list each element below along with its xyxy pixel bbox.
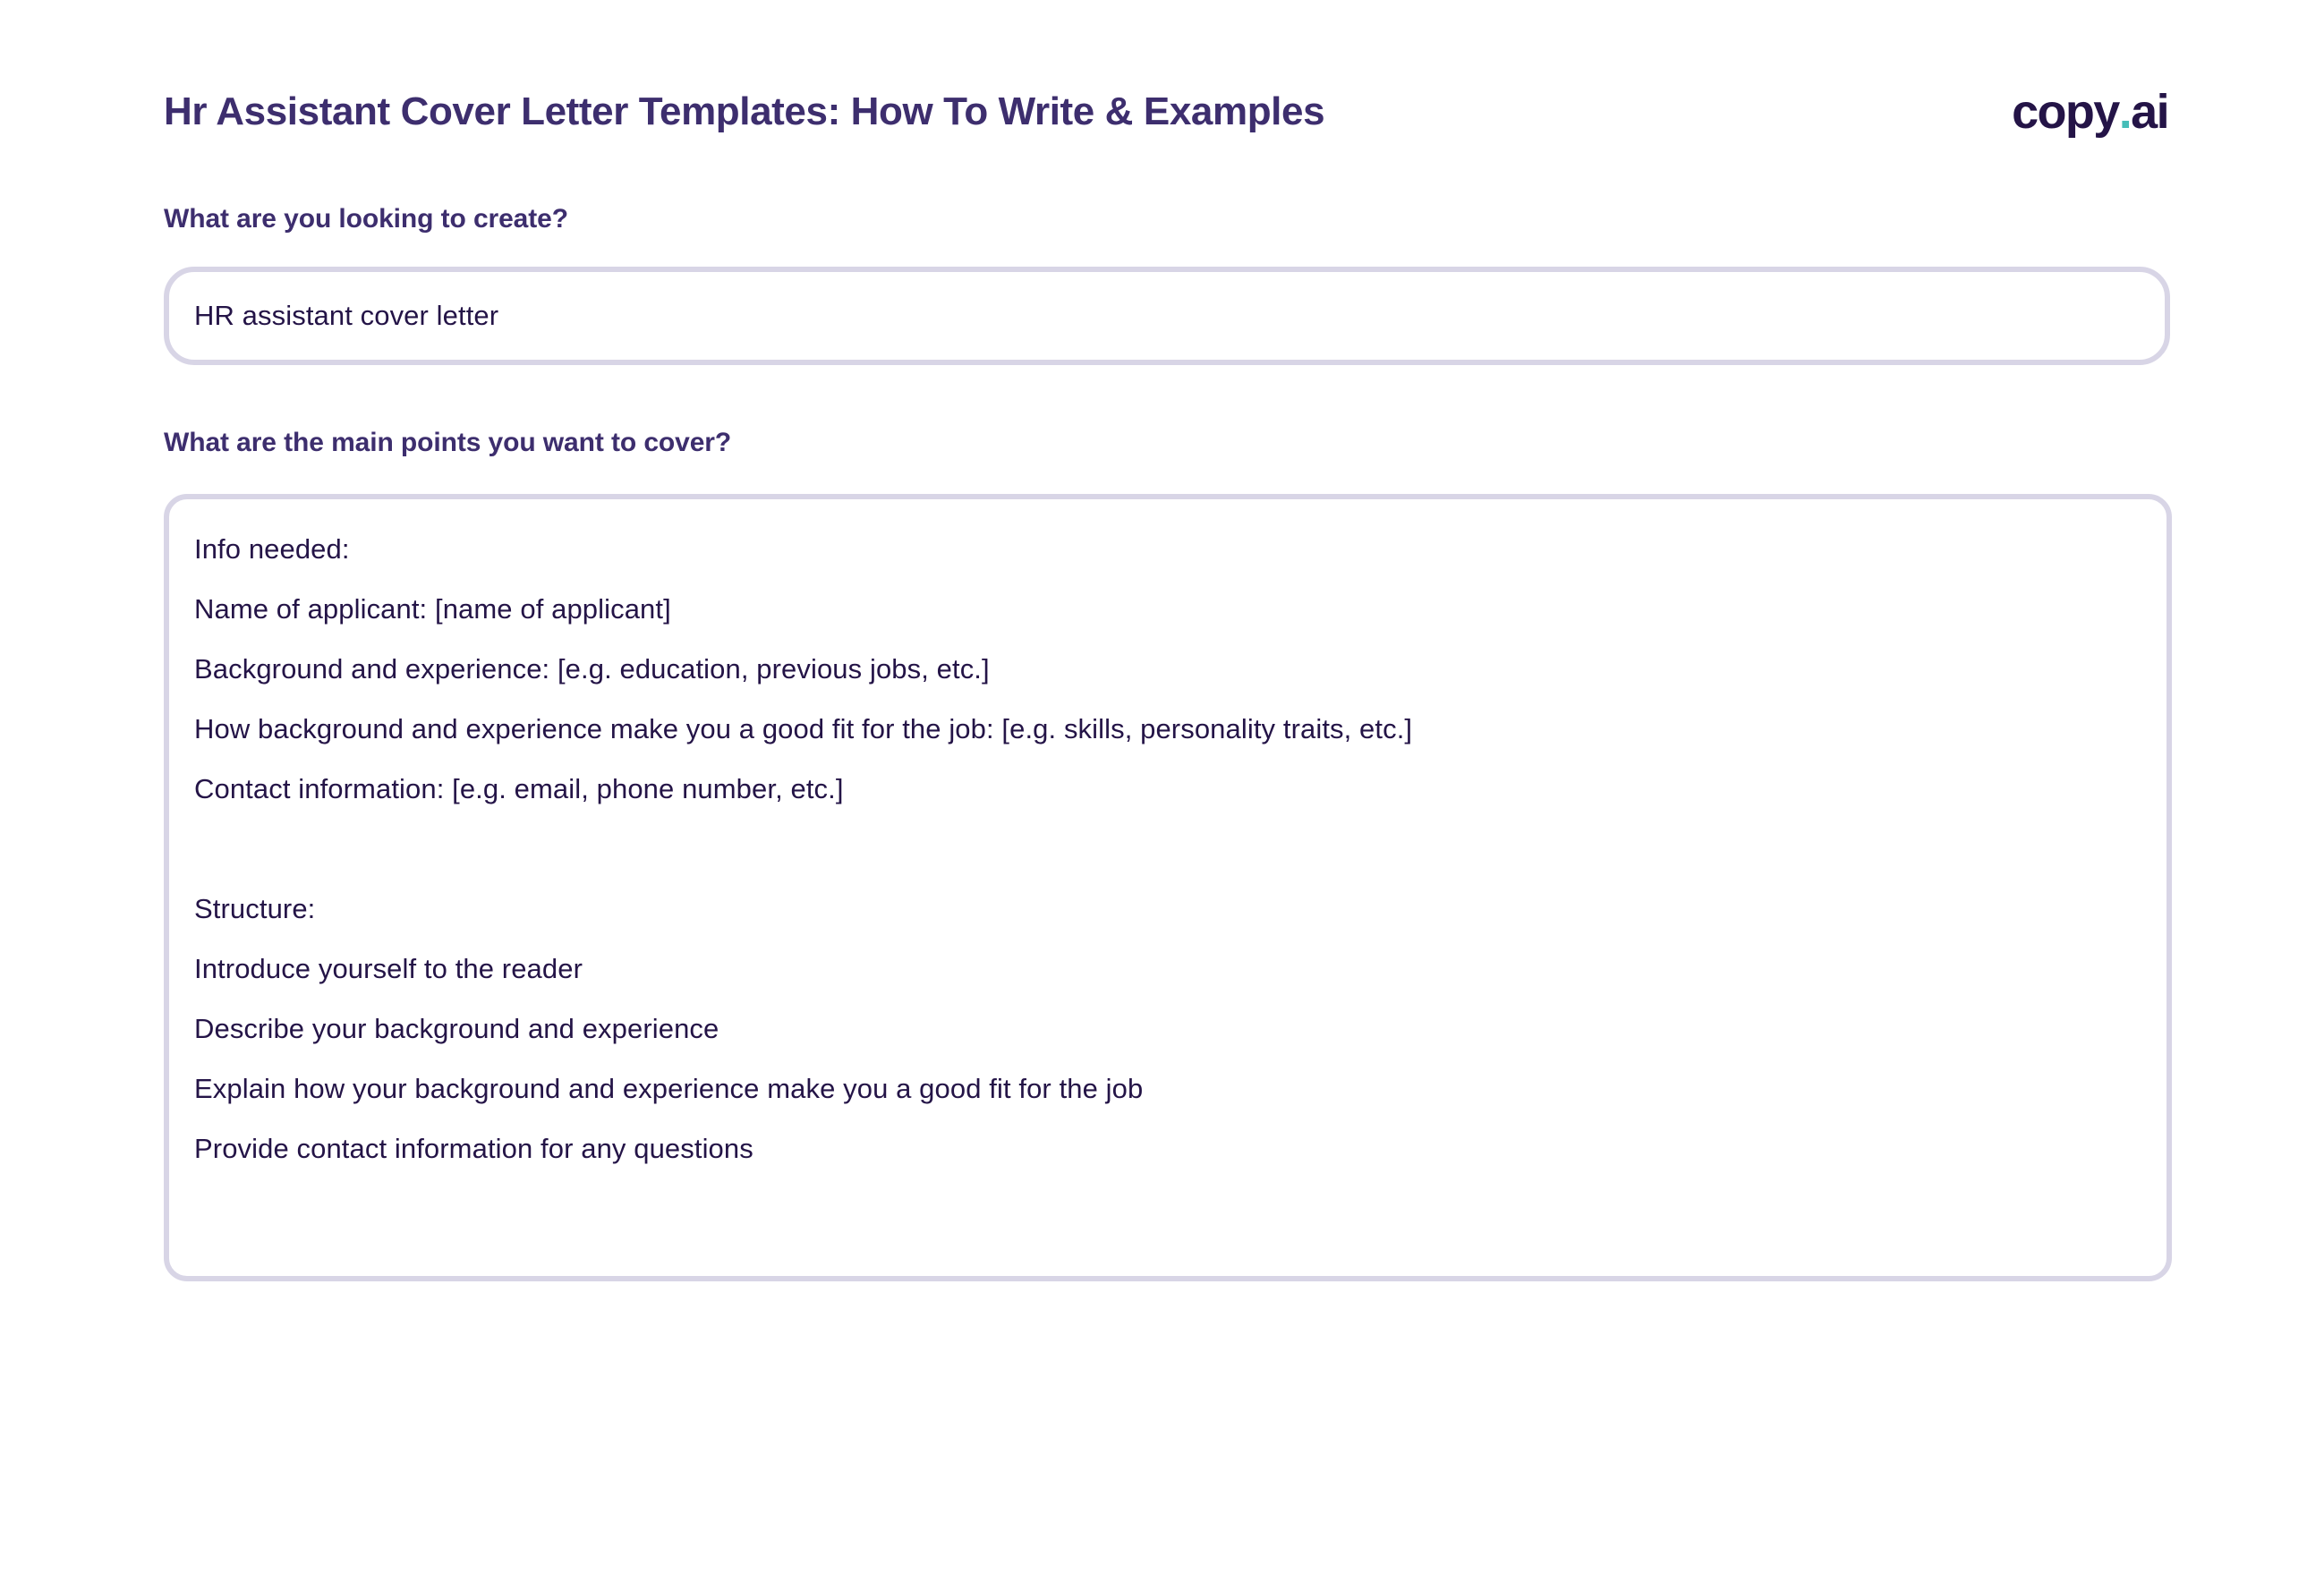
create-input-value[interactable]: HR assistant cover letter (194, 299, 498, 332)
textarea-line: Introduce yourself to the reader (194, 939, 2141, 999)
page-header: Hr Assistant Cover Letter Templates: How… (164, 77, 2170, 147)
textarea-line: Contact information: [e.g. email, phone … (194, 759, 2141, 819)
textarea-line-blank (194, 819, 2141, 879)
textarea-line: Provide contact information for any ques… (194, 1118, 2141, 1178)
textarea-line: Structure: (194, 879, 2141, 939)
textarea-line: Describe your background and experience (194, 999, 2141, 1059)
textarea-line: Background and experience: [e.g. educati… (194, 639, 2141, 699)
logo-word-ai: ai (2131, 88, 2168, 136)
points-textarea[interactable]: Info needed: Name of applicant: [name of… (164, 494, 2172, 1281)
textarea-line: Explain how your background and experien… (194, 1059, 2141, 1118)
textarea-line: Name of applicant: [name of applicant] (194, 579, 2141, 639)
create-input-wrapper[interactable]: HR assistant cover letter (164, 267, 2170, 365)
textarea-line: Info needed: (194, 519, 2141, 579)
logo-word-copy: copy (2012, 88, 2119, 136)
points-field-label: What are the main points you want to cov… (164, 428, 731, 458)
textarea-line: How background and experience make you a… (194, 699, 2141, 759)
copyai-logo: copy.ai (2012, 88, 2170, 136)
page-title: Hr Assistant Cover Letter Templates: How… (164, 90, 1324, 133)
logo-accent-dot: . (2119, 88, 2131, 136)
create-field-label: What are you looking to create? (164, 204, 568, 234)
page-root: Hr Assistant Cover Letter Templates: How… (0, 0, 2324, 1582)
